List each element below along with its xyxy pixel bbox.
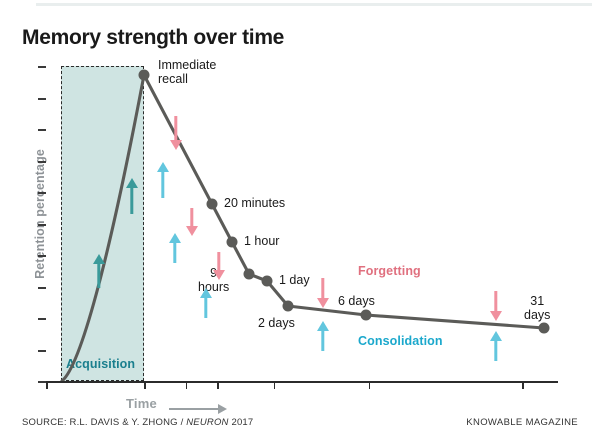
page-title: Memory strength over time bbox=[22, 26, 284, 50]
x-axis-line bbox=[46, 381, 558, 383]
annotation-arrow-acq-up-2 bbox=[125, 178, 138, 214]
arrow-shaft bbox=[161, 171, 164, 198]
x-axis-tick bbox=[522, 382, 524, 389]
annotation-arrow-consol-up-3 bbox=[199, 288, 212, 318]
arrow-shaft bbox=[321, 330, 324, 351]
point-label-31-days: 31days bbox=[524, 294, 550, 322]
infographic-root: Memory strength over time Retention perc… bbox=[0, 0, 600, 441]
annotation-arrow-consol-up-4 bbox=[316, 321, 329, 351]
point-label-line-2: days bbox=[524, 308, 550, 322]
data-point-immediate-recall bbox=[139, 70, 150, 81]
y-axis-title: Retention percentage bbox=[33, 149, 47, 279]
x-axis-tick bbox=[217, 382, 219, 389]
annotation-arrow-consol-up-2 bbox=[168, 233, 181, 263]
arrow-shaft bbox=[130, 187, 133, 214]
forgetting-label: Forgetting bbox=[358, 264, 421, 278]
y-axis-tick bbox=[38, 192, 46, 194]
arrow-shaft bbox=[190, 208, 193, 227]
publisher-credit: KNOWABLE MAGAZINE bbox=[466, 417, 578, 428]
arrow-head bbox=[213, 270, 225, 280]
chart-plot-area: Retention percentage Acquisition Immedia… bbox=[46, 66, 558, 381]
data-point-1-hour bbox=[227, 237, 238, 248]
annotation-arrow-consol-up-5 bbox=[489, 331, 502, 361]
point-label-1-day: 1 day bbox=[279, 273, 310, 287]
data-point-2-days bbox=[283, 301, 294, 312]
y-axis-tick bbox=[38, 66, 46, 68]
arrow-head bbox=[169, 233, 181, 243]
y-axis-tick bbox=[38, 381, 46, 383]
arrow-head bbox=[200, 288, 212, 298]
arrow-shaft bbox=[174, 116, 177, 141]
x-axis-arrow-head bbox=[218, 404, 227, 414]
y-axis-tick bbox=[38, 255, 46, 257]
y-axis-tick bbox=[38, 224, 46, 226]
consolidation-label: Consolidation bbox=[358, 334, 443, 348]
arrow-head bbox=[490, 311, 502, 321]
arrow-head bbox=[170, 140, 182, 150]
source-journal: NEURON bbox=[186, 417, 228, 428]
annotation-arrow-forget-down-3 bbox=[212, 252, 225, 280]
arrow-head bbox=[157, 162, 169, 172]
y-axis-tick bbox=[38, 129, 46, 131]
top-rule bbox=[36, 3, 592, 6]
arrow-head bbox=[126, 178, 138, 188]
source-prefix: SOURCE: R.L. DAVIS & Y. ZHONG / bbox=[22, 417, 186, 428]
y-axis-tick bbox=[38, 161, 46, 163]
arrow-shaft bbox=[321, 278, 324, 299]
point-label-6-days: 6 days bbox=[338, 294, 375, 308]
data-point-9-hours bbox=[244, 269, 255, 280]
arrow-head bbox=[317, 321, 329, 331]
y-axis-tick bbox=[38, 350, 46, 352]
arrow-shaft bbox=[494, 340, 497, 361]
annotation-arrow-forget-down-5 bbox=[489, 291, 502, 321]
point-label-line-1: 31 bbox=[524, 294, 550, 308]
annotation-arrow-forget-down-2 bbox=[185, 208, 198, 236]
source-suffix: 2017 bbox=[229, 417, 254, 428]
point-label-20-minutes: 20 minutes bbox=[224, 196, 285, 210]
memory-curve bbox=[46, 66, 558, 381]
arrow-shaft bbox=[173, 242, 176, 263]
x-axis-tick bbox=[274, 382, 276, 389]
data-point-20-minutes bbox=[207, 199, 218, 210]
y-axis-tick bbox=[38, 318, 46, 320]
arrow-shaft bbox=[97, 263, 100, 288]
data-point-31-days bbox=[539, 323, 550, 334]
point-label-2-days: 2 days bbox=[258, 316, 295, 330]
y-axis-tick bbox=[38, 98, 46, 100]
x-axis-arrow-shaft bbox=[169, 408, 221, 410]
data-point-1-day bbox=[262, 276, 273, 287]
source-note: SOURCE: R.L. DAVIS & Y. ZHONG / NEURON 2… bbox=[22, 417, 253, 428]
x-axis-title: Time bbox=[126, 396, 157, 411]
point-label-immediate-recall: Immediaterecall bbox=[158, 58, 216, 86]
point-label-line-1: Immediate bbox=[158, 58, 216, 72]
arrow-shaft bbox=[494, 291, 497, 312]
arrow-head bbox=[317, 298, 329, 308]
arrow-shaft bbox=[217, 252, 220, 271]
annotation-arrow-acq-up-1 bbox=[92, 254, 105, 288]
arrow-head bbox=[490, 331, 502, 341]
x-axis-tick bbox=[144, 382, 146, 389]
arrow-head bbox=[186, 226, 198, 236]
annotation-arrow-consol-up-1 bbox=[156, 162, 169, 198]
annotation-arrow-forget-down-1 bbox=[169, 116, 182, 150]
annotation-arrow-forget-down-4 bbox=[316, 278, 329, 308]
x-axis-tick bbox=[186, 382, 188, 389]
arrow-shaft bbox=[204, 297, 207, 318]
point-label-1-hour: 1 hour bbox=[244, 234, 279, 248]
x-axis-tick bbox=[46, 382, 48, 389]
arrow-head bbox=[93, 254, 105, 264]
y-axis-tick bbox=[38, 287, 46, 289]
x-axis-tick bbox=[369, 382, 371, 389]
point-label-line-2: recall bbox=[158, 72, 216, 86]
data-point-6-days bbox=[361, 310, 372, 321]
